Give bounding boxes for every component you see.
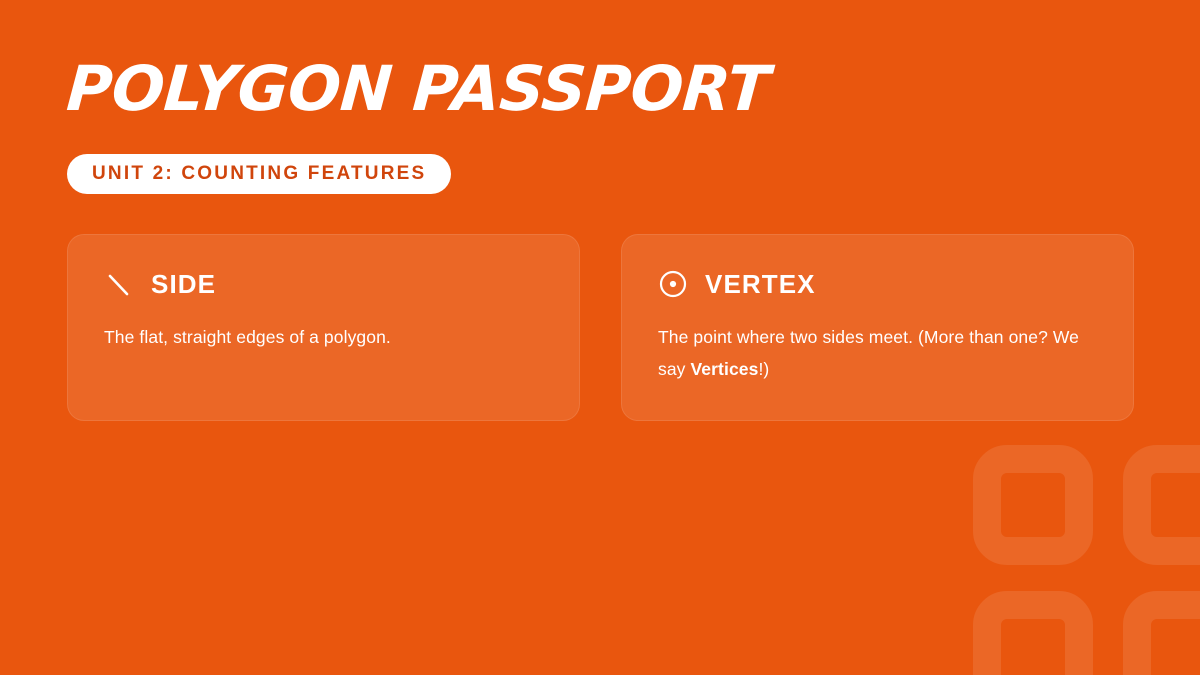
card-body: The point where two sides meet. (More th…	[658, 321, 1097, 386]
decor-square	[973, 591, 1093, 675]
card-title: SIDE	[151, 271, 216, 297]
card-body: The flat, straight edges of a polygon.	[104, 321, 543, 353]
page-title: POLYGON PASSPORT	[65, 56, 772, 121]
diagonal-line-icon	[104, 269, 134, 299]
card-body-text: The flat, straight edges of a polygon.	[104, 327, 391, 347]
circle-dot-icon	[658, 269, 688, 299]
card-title: VERTEX	[705, 271, 816, 297]
unit-badge-label: UNIT 2: COUNTING FEATURES	[92, 163, 426, 185]
card-header: VERTEX	[658, 269, 1097, 299]
card-vertex: VERTEX The point where two sides meet. (…	[621, 234, 1134, 421]
decor-square	[1123, 445, 1200, 565]
unit-badge: UNIT 2: COUNTING FEATURES	[67, 154, 451, 194]
definition-cards: SIDE The flat, straight edges of a polyg…	[67, 234, 1134, 421]
decor-square	[1123, 591, 1200, 675]
card-header: SIDE	[104, 269, 543, 299]
card-body-text-tail: !)	[758, 359, 769, 379]
decor-square	[973, 445, 1093, 565]
card-side: SIDE The flat, straight edges of a polyg…	[67, 234, 580, 421]
slide-root: POLYGON PASSPORT UNIT 2: COUNTING FEATUR…	[0, 0, 1200, 675]
rounded-squares-pattern	[950, 425, 1200, 675]
card-body-text-emphasis: Vertices	[691, 359, 759, 379]
